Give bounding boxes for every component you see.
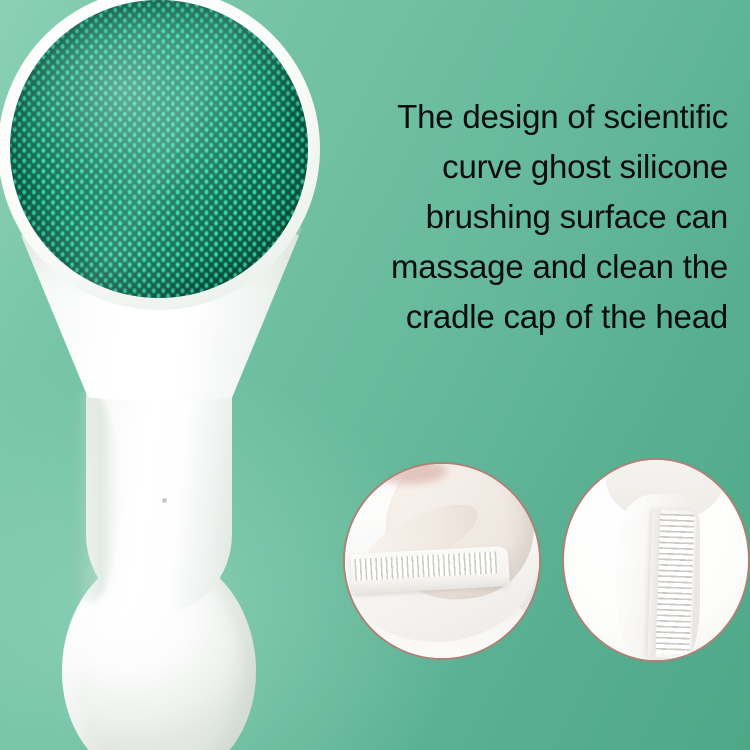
- headline-line-2: curve ghost silicone: [328, 142, 728, 192]
- brush-head-silicone-disc: [10, 0, 308, 298]
- inset-a-comb: [350, 546, 510, 594]
- headline-line-5: cradle cap of the head: [328, 292, 728, 342]
- headline-line-4: massage and clean the: [328, 242, 728, 292]
- inset-comb-detail: [562, 458, 750, 662]
- headline-line-1: The design of scientific: [328, 92, 728, 142]
- inset-b-comb-teeth: [655, 514, 695, 655]
- disc-vignette: [10, 0, 308, 298]
- product-banner: The design of scientific curve ghost sil…: [0, 0, 750, 750]
- handle-mark-dot: [162, 498, 167, 503]
- headline-text: The design of scientific curve ghost sil…: [328, 92, 728, 342]
- inset-b-comb: [647, 509, 696, 658]
- inset-brush-and-comb: [343, 462, 541, 660]
- headline-line-3: brushing surface can: [328, 192, 728, 242]
- product-brush: [0, 0, 340, 750]
